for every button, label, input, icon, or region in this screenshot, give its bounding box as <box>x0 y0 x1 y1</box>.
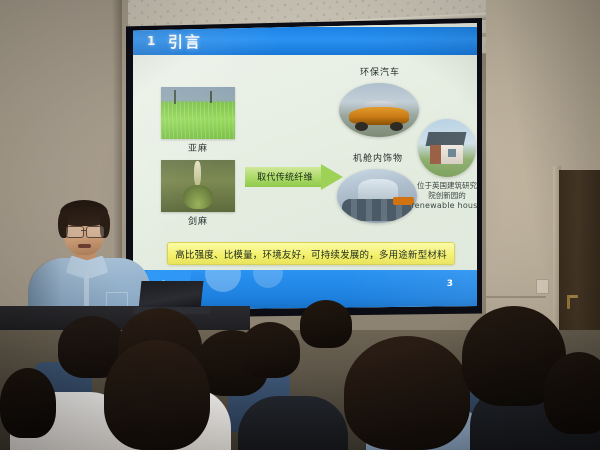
cabin-panel-detail <box>358 179 398 202</box>
slide-body: 亚麻 剑麻 取代传统纤维 环保汽车 <box>133 57 477 272</box>
audience-head <box>240 322 300 378</box>
car-wheel-rear <box>390 122 403 131</box>
presenter-mouth <box>78 244 91 248</box>
replacement-arrow: 取代传统纤维 <box>245 167 343 187</box>
arrow-label: 取代传统纤维 <box>248 170 322 183</box>
house-caption-line1: 位于英国建筑研究 <box>405 181 477 191</box>
glasses-lens-left-icon <box>66 226 84 238</box>
sisal-rosette <box>183 185 213 209</box>
sisal-label: 剑麻 <box>161 214 235 227</box>
house-brick-detail <box>430 145 442 165</box>
glasses-lens-right-icon <box>86 226 104 238</box>
slide-title-bar: 1 引言 <box>133 27 477 55</box>
door-handle-shaft-icon <box>567 295 570 309</box>
flax-tree-detail <box>174 90 176 104</box>
audience-shirt <box>238 396 348 450</box>
audience-head <box>344 336 470 450</box>
banner-text: 高比强度、比模量，环境友好，可持续发展的，多用途新型材料 <box>175 247 447 261</box>
renewable-house-caption: 位于英国建筑研究 院创新园的 renewable house <box>405 181 477 211</box>
slide-page-number: 3 <box>447 279 453 289</box>
footer-circle-2 <box>205 270 241 292</box>
slide-section-number: 1 <box>147 34 156 48</box>
presentation-slide: 1 引言 亚麻 剑麻 取代传统纤维 <box>133 23 477 310</box>
house-caption-line3: renewable house <box>405 201 477 211</box>
eco-car-label: 环保汽车 <box>335 65 425 78</box>
wall-light-switch[interactable] <box>536 279 549 294</box>
house-window-detail <box>448 149 456 157</box>
slide-title: 引言 <box>168 31 202 52</box>
audience-head <box>544 352 600 434</box>
key-properties-banner: 高比强度、比模量，环境友好，可持续发展的，多用途新型材料 <box>167 242 455 265</box>
projection-screen: 1 引言 亚麻 剑麻 取代传统纤维 <box>133 23 477 310</box>
renewable-house-photo <box>418 119 476 177</box>
flax-field-photo <box>161 87 235 139</box>
car-wheel-front <box>355 122 368 131</box>
sisal-plant-photo <box>161 160 235 212</box>
flax-tree-detail-2 <box>210 91 212 102</box>
audience-head <box>300 300 352 348</box>
lecture-hall-scene: 1 引言 亚麻 剑麻 取代传统纤维 <box>0 0 600 450</box>
flax-label: 亚麻 <box>161 141 235 154</box>
house-caption-line2: 院创新园的 <box>405 191 477 201</box>
audience-head <box>104 340 210 450</box>
presenter-laptop[interactable] <box>139 281 204 309</box>
wall-trim-line <box>486 296 546 298</box>
audience-head <box>0 368 56 438</box>
footer-circle-3 <box>253 270 283 288</box>
cabin-label: 机舱内饰物 <box>333 151 423 164</box>
sisal-flower-spike <box>194 161 201 186</box>
glasses-bridge-icon <box>81 230 87 231</box>
eco-car-photo <box>339 83 419 137</box>
